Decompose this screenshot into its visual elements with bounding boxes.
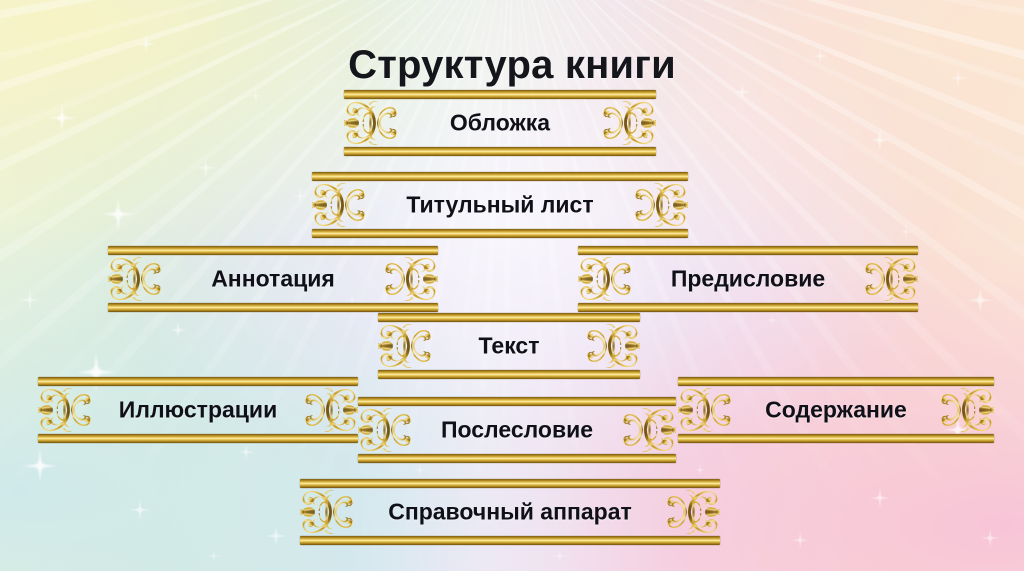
slide-canvas: Структура книги ОбложкаТитульный листАнн… [0,0,1024,571]
diagram-node-cover[interactable]: Обложка [344,90,656,156]
diagram-node-label: Аннотация [108,266,438,293]
diagram-node-contents[interactable]: Содержание [678,377,994,443]
diagram-node-label: Иллюстрации [38,397,358,424]
diagram-node-label: Послесловие [358,417,676,444]
plaque-bottom-bar [578,303,918,312]
diagram-node-label: Предисловие [578,266,918,293]
plaque-bottom-bar [378,370,640,379]
diagram-node-text[interactable]: Текст [378,313,640,379]
diagram-node-label: Содержание [678,397,994,424]
plaque-top-bar [378,313,640,322]
plaque-top-bar [678,377,994,386]
page-title: Структура книги [0,43,1024,88]
plaque-bottom-bar [312,229,688,238]
plaque-bottom-bar [300,536,720,545]
plaque-top-bar [578,246,918,255]
diagram-node-label: Титульный лист [312,192,688,219]
diagram-node-label: Текст [378,333,640,360]
plaque-top-bar [300,479,720,488]
diagram-node-annotation[interactable]: Аннотация [108,246,438,312]
diagram-node-images[interactable]: Иллюстрации [38,377,358,443]
plaque-top-bar [108,246,438,255]
plaque-bottom-bar [108,303,438,312]
diagram-node-reference[interactable]: Справочный аппарат [300,479,720,545]
diagram-node-afterword[interactable]: Послесловие [358,397,676,463]
plaque-top-bar [358,397,676,406]
plaque-bottom-bar [358,454,676,463]
plaque-bottom-bar [344,147,656,156]
diagram-node-label: Обложка [344,110,656,137]
diagram-node-label: Справочный аппарат [300,499,720,526]
plaque-bottom-bar [38,434,358,443]
diagram-node-preface[interactable]: Предисловие [578,246,918,312]
plaque-top-bar [312,172,688,181]
plaque-top-bar [344,90,656,99]
plaque-bottom-bar [678,434,994,443]
diagram-node-title-page[interactable]: Титульный лист [312,172,688,238]
plaque-top-bar [38,377,358,386]
